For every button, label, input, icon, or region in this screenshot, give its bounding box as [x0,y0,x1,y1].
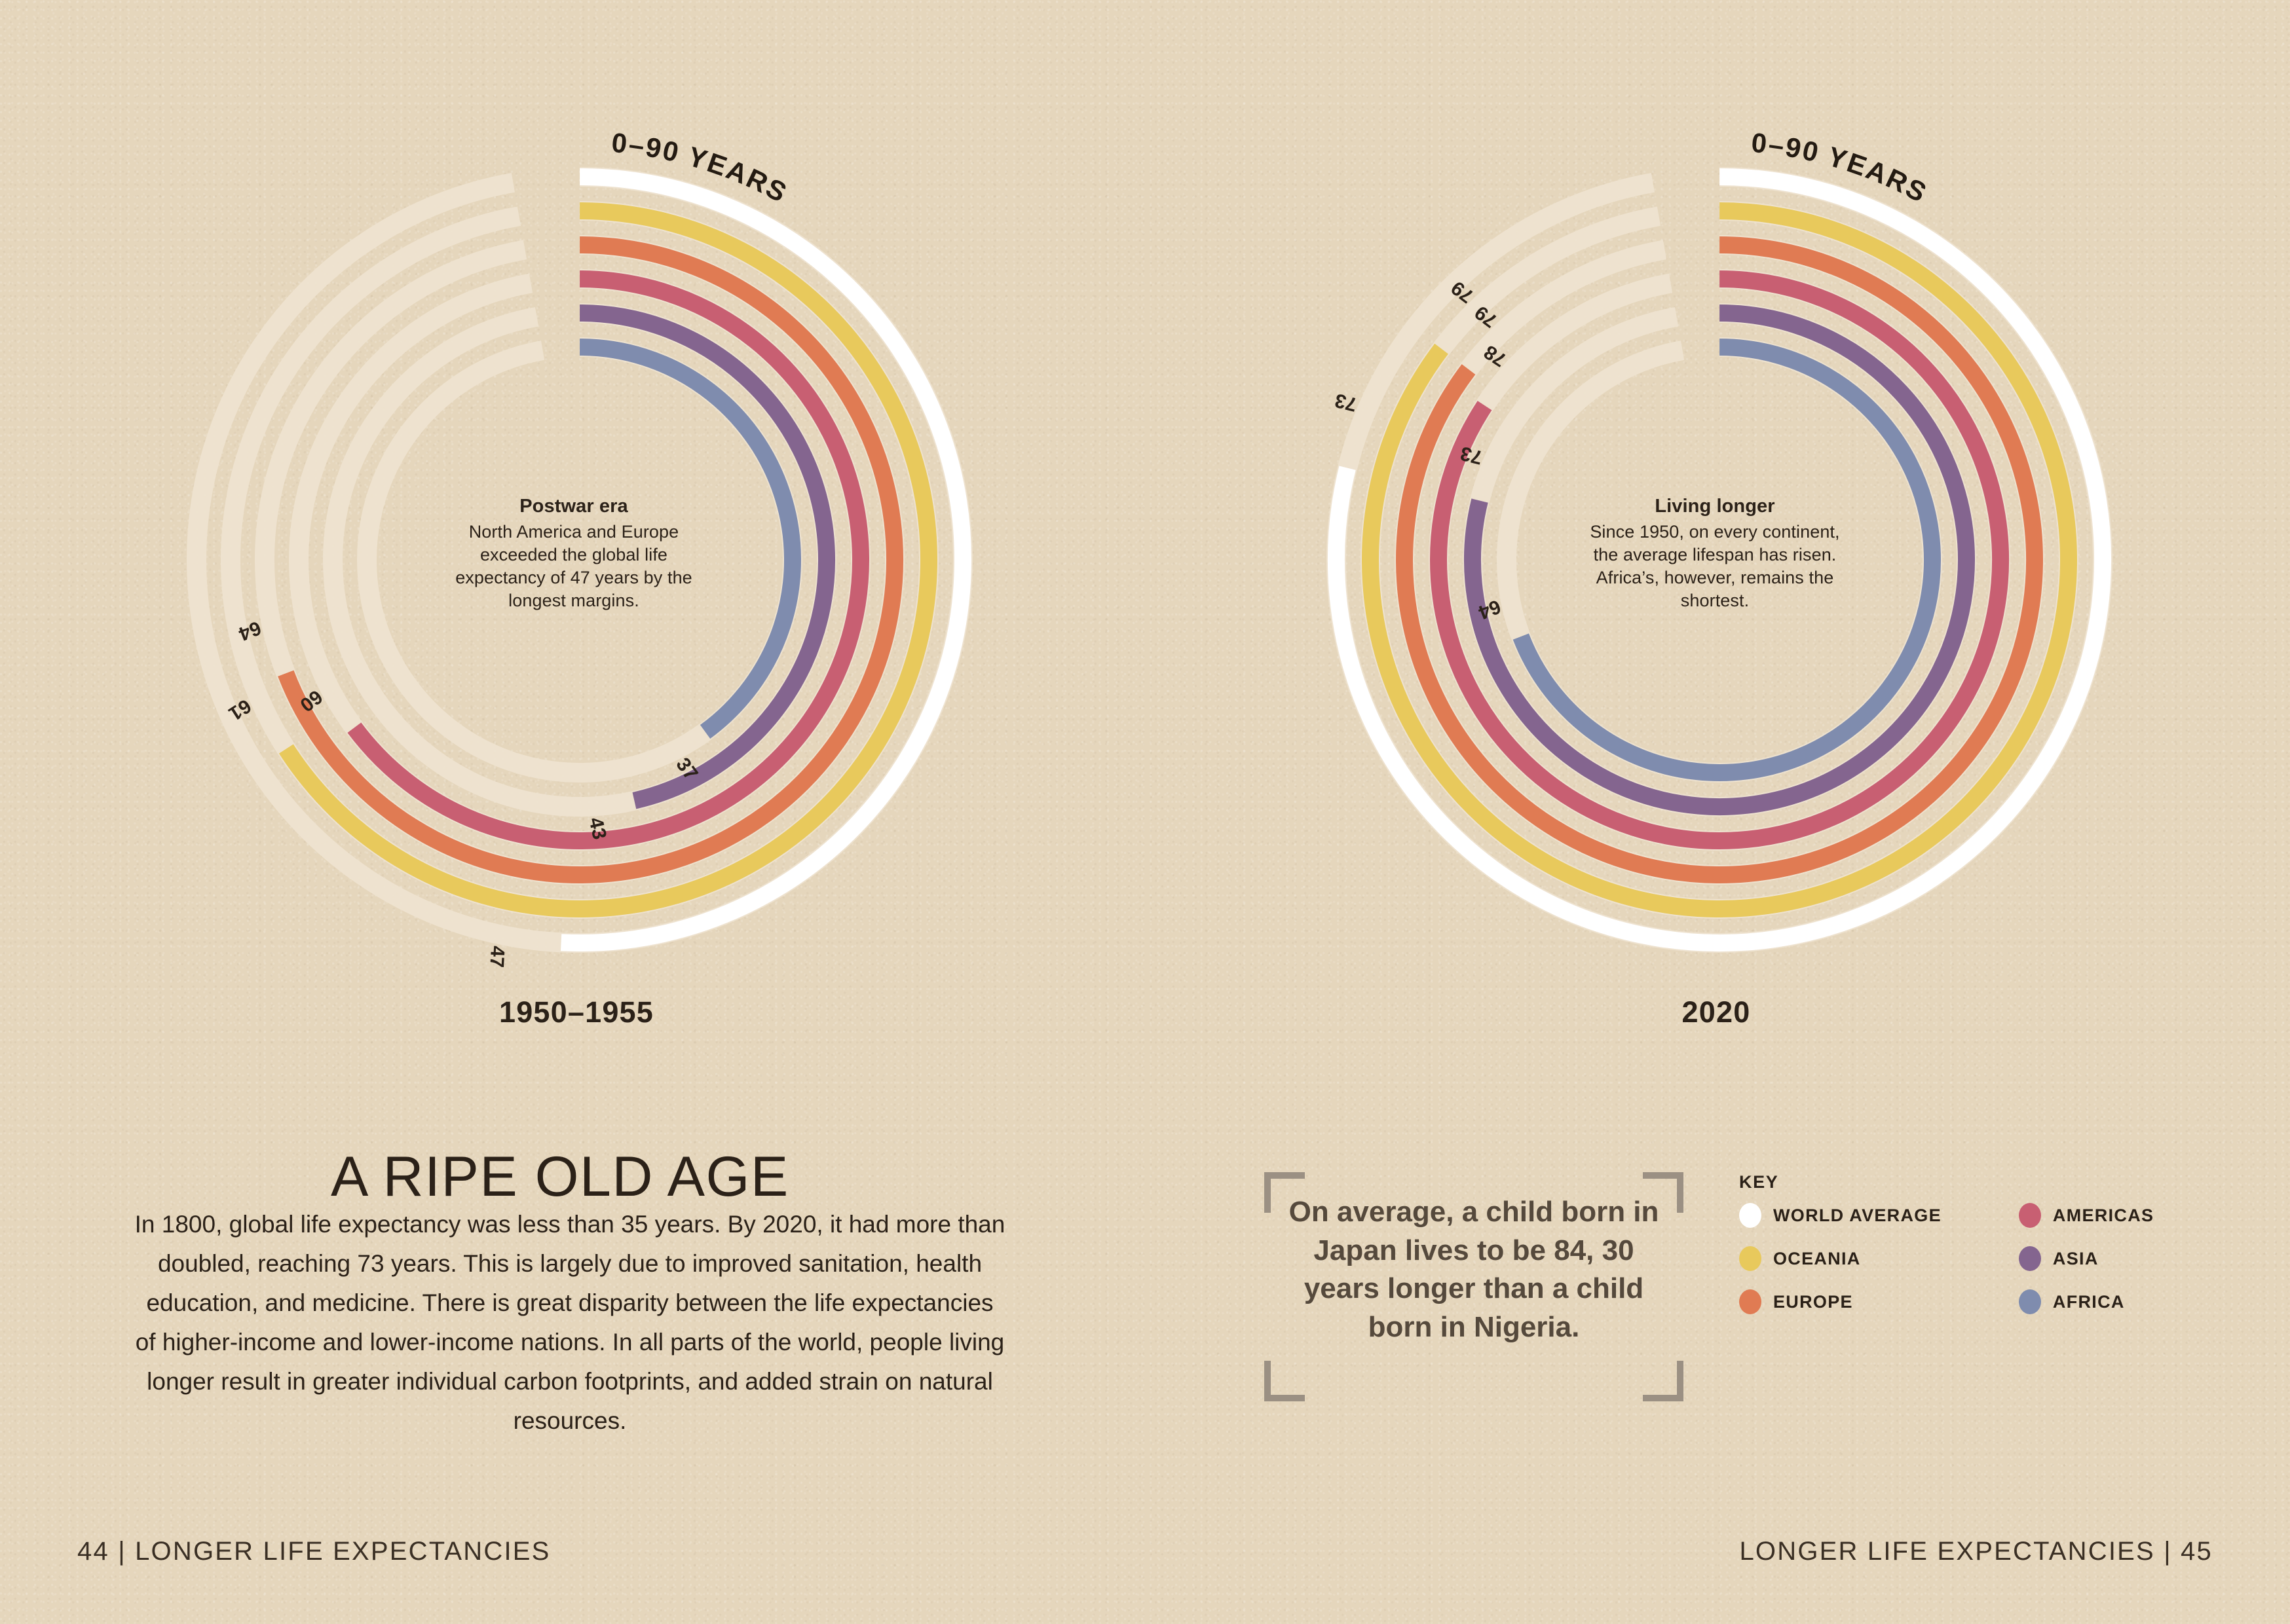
chart-2020-note-title: Living longer [1584,494,1846,519]
pullquote-block: On average, a child born in Japan lives … [1264,1172,1683,1401]
key-item-world-average: WORLD AVERAGE [1739,1203,1942,1228]
key-swatch-asia [2019,1246,2041,1271]
key-column-left: WORLD AVERAGE OCEANIA EUROPE [1739,1203,1942,1314]
chart-1950-note-body: North America and Europe exceeded the gl… [455,522,692,610]
key-title: KEY [1739,1172,2154,1192]
chart-1950-year-label: 1950–1955 [393,995,760,1029]
footer-right: LONGER LIFE EXPECTANCIES | 45 [1739,1537,2213,1566]
key-item-americas: AMERICAS [2019,1203,2154,1228]
key-label-americas: AMERICAS [2053,1206,2154,1226]
key-swatch-europe [1739,1289,1761,1314]
spread-root: 4761646043370–90 YEARS Postwar era North… [0,0,2290,1624]
key-column-right: AMERICAS ASIA AFRICA [2019,1203,2154,1314]
chart-2020-center-note: Living longer Since 1950, on every conti… [1584,494,1846,612]
key-label-europe: EUROPE [1773,1292,1853,1312]
bracket-corner-bottom-right [1643,1361,1683,1401]
page-title: A RIPE OLD AGE [331,1145,789,1209]
bracket-corner-bottom-left [1264,1361,1305,1401]
body-paragraph: In 1800, global life expectancy was less… [134,1205,1005,1441]
key-swatch-africa [2019,1289,2041,1314]
key-label-oceania: OCEANIA [1773,1249,1861,1269]
key-label-world-average: WORLD AVERAGE [1773,1206,1942,1226]
key-label-asia: ASIA [2053,1249,2099,1269]
key-swatch-americas [2019,1203,2041,1228]
key-item-asia: ASIA [2019,1246,2154,1271]
key-item-oceania: OCEANIA [1739,1246,1942,1271]
chart-1950-note-title: Postwar era [443,494,705,519]
key-swatch-world-average [1739,1203,1761,1228]
chart-2020-note-body: Since 1950, on every continent, the aver… [1590,522,1839,610]
footer-left: 44 | LONGER LIFE EXPECTANCIES [77,1537,551,1566]
ring-value-label-world-average: 73 [1333,389,1359,415]
chart-1950-center-note: Postwar era North America and Europe exc… [443,494,705,612]
pullquote-text: On average, a child born in Japan lives … [1284,1193,1664,1346]
key-item-europe: EUROPE [1739,1289,1942,1314]
chart-key: KEY WORLD AVERAGE OCEANIA EUROPE [1739,1172,2154,1314]
key-swatch-oceania [1739,1246,1761,1271]
key-item-africa: AFRICA [2019,1289,2154,1314]
ring-value-label-group: 47 [485,946,508,969]
key-label-africa: AFRICA [2053,1292,2125,1312]
chart-2020-year-label: 2020 [1533,995,1900,1029]
ring-value-label-group: 73 [1333,389,1359,415]
ring-value-label-world-average: 47 [485,946,508,969]
